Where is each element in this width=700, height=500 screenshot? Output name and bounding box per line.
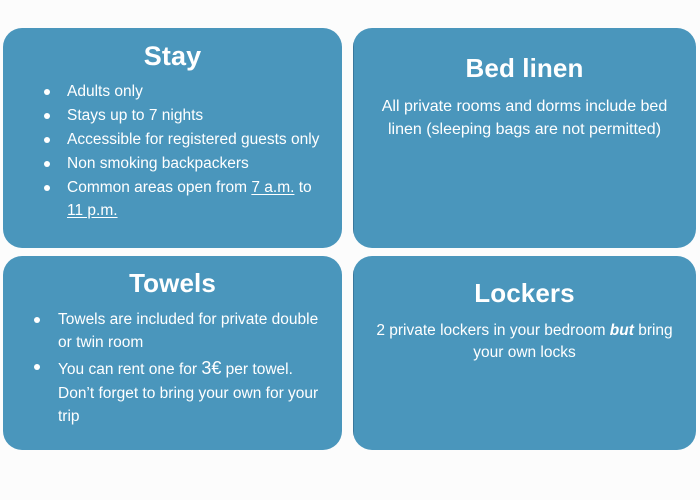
card-bed-linen-body: All private rooms and dorms include bed … <box>353 95 696 141</box>
list-item: Stays up to 7 nights <box>41 104 332 127</box>
card-stay-title: Stay <box>3 42 342 72</box>
list-item: Accessible for registered guests only <box>41 128 332 151</box>
text-run: but <box>610 322 634 339</box>
card-towels-bullet-list: Towels are included for private double o… <box>3 308 342 429</box>
list-item: Adults only <box>41 80 332 103</box>
list-item: Common areas open from 7 a.m. to 11 p.m. <box>41 176 332 222</box>
text-run: Common areas open from <box>67 179 251 196</box>
list-item: Towels are included for private double o… <box>31 308 332 355</box>
card-lockers[interactable]: Lockers 2 private lockers in your bedroo… <box>353 256 696 450</box>
text-run: 3€ <box>201 358 221 378</box>
text-run: 11 p.m. <box>67 202 118 219</box>
card-bed-linen[interactable]: Bed linen All private rooms and dorms in… <box>353 28 696 248</box>
list-item: Non smoking backpackers <box>41 152 332 175</box>
card-bed-linen-title: Bed linen <box>353 54 696 83</box>
card-towels[interactable]: Towels Towels are included for private d… <box>3 256 342 450</box>
list-item: You can rent one for 3€ per towel. Don’t… <box>31 355 332 429</box>
text-run: to <box>294 179 311 196</box>
card-lockers-body: 2 private lockers in your bedroom but br… <box>353 320 696 365</box>
card-stay-bullet-list: Adults only Stays up to 7 nights Accessi… <box>3 80 342 223</box>
card-lockers-title: Lockers <box>353 279 696 308</box>
text-run: 7 a.m. <box>251 179 294 196</box>
card-stay[interactable]: Stay Adults only Stays up to 7 nights Ac… <box>3 28 342 248</box>
text-run: 2 private lockers in your bedroom <box>376 322 609 339</box>
card-towels-title: Towels <box>3 269 342 298</box>
text-run: You can rent one for <box>58 361 201 378</box>
cards-board: Stay Adults only Stays up to 7 nights Ac… <box>0 0 700 500</box>
